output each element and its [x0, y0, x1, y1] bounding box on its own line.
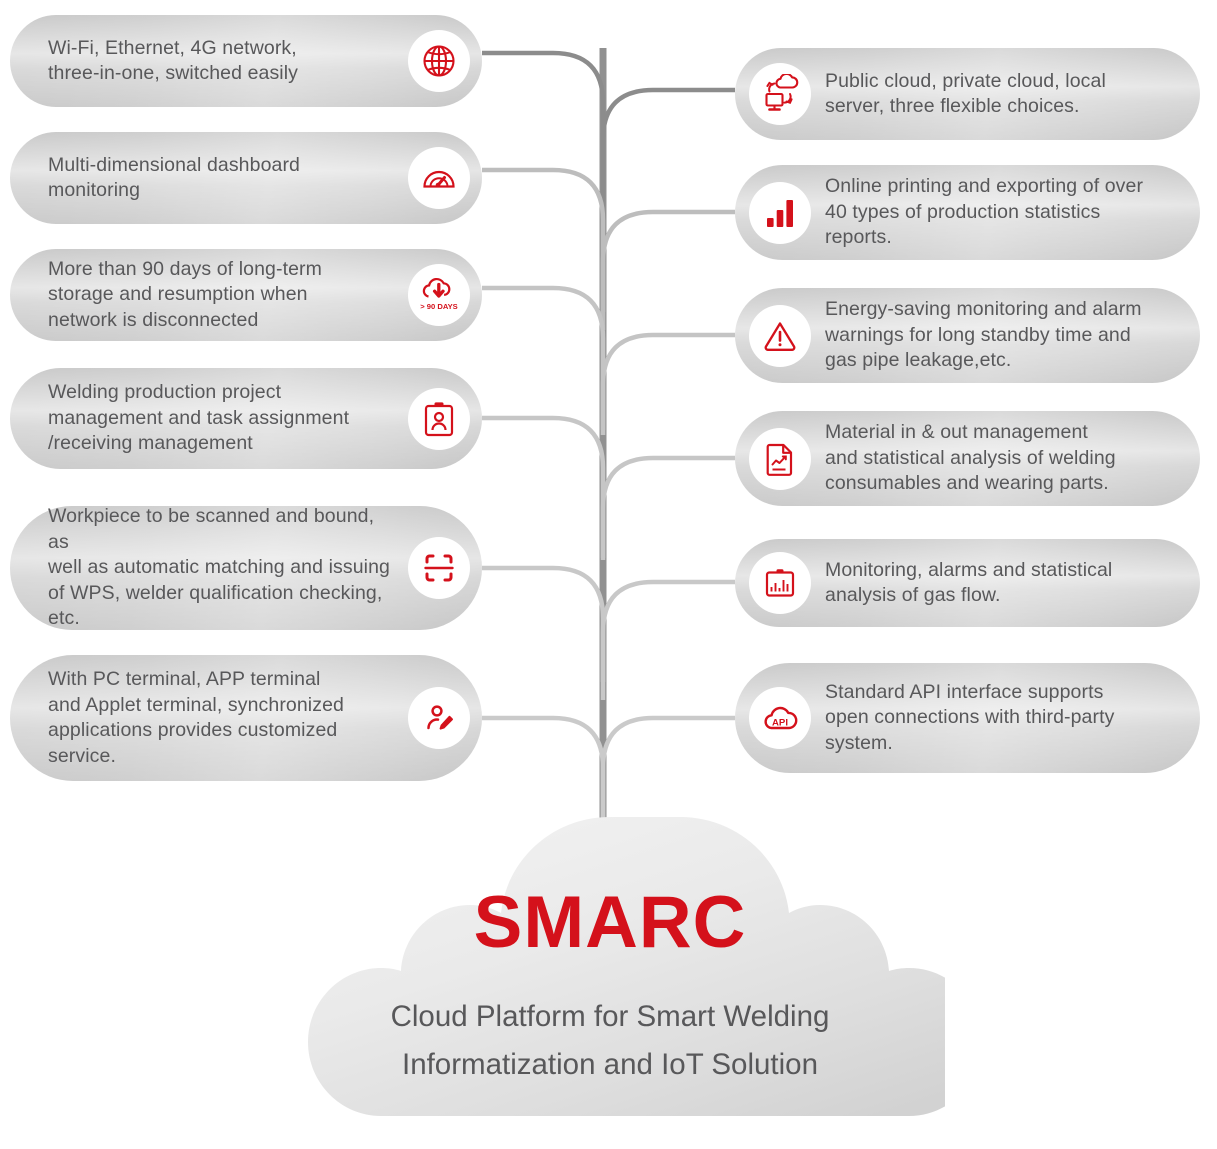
feature-text: Welding production project management an… [48, 380, 408, 457]
feature-pill-material[interactable]: Material in & out management and statist… [735, 411, 1200, 506]
cloud-shape-icon [275, 805, 945, 1149]
feature-text: Online printing and exporting of over 40… [811, 174, 1174, 251]
feature-pill-project-management[interactable]: Welding production project management an… [10, 368, 482, 469]
bar-chart-icon [749, 182, 811, 244]
api-cloud-icon: API [749, 687, 811, 749]
gauge-icon [408, 147, 470, 209]
cloud-sync-monitor-icon [749, 63, 811, 125]
feature-text: Wi-Fi, Ethernet, 4G network, three-in-on… [48, 36, 408, 87]
branch-left-5 [482, 568, 603, 700]
branch-left-2 [482, 170, 603, 330]
branch-left-3 [482, 288, 603, 430]
feature-pill-terminals[interactable]: With PC terminal, APP terminal and Apple… [10, 655, 482, 781]
feature-text: Multi-dimensional dashboard monitoring [48, 153, 408, 204]
feature-text: Standard API interface supports open con… [811, 680, 1174, 757]
document-chart-icon [749, 428, 811, 490]
branch-right-4 [603, 458, 735, 558]
cloud-download-icon: > 90 DAYS [408, 264, 470, 326]
clipboard-person-icon [408, 388, 470, 450]
branch-left-4 [482, 418, 603, 560]
branch-right-3 [603, 335, 735, 435]
cloud-title: SMARC [275, 883, 945, 963]
infographic-canvas: Wi-Fi, Ethernet, 4G network, three-in-on… [0, 0, 1217, 1149]
feature-pill-energy-alarm[interactable]: Energy-saving monitoring and alarm warni… [735, 288, 1200, 383]
feature-pill-gas-flow[interactable]: Monitoring, alarms and statistical analy… [735, 539, 1200, 627]
branch-right-2 [603, 212, 735, 312]
feature-pill-storage[interactable]: More than 90 days of long-term storage a… [10, 249, 482, 341]
clipboard-chart-icon [749, 552, 811, 614]
person-edit-icon [408, 687, 470, 749]
branch-right-6 [603, 718, 735, 818]
feature-pill-reports[interactable]: Online printing and exporting of over 40… [735, 165, 1200, 260]
feature-pill-network[interactable]: Wi-Fi, Ethernet, 4G network, three-in-on… [10, 15, 482, 107]
branch-right-5 [603, 582, 735, 682]
cloud-subtitle: Cloud Platform for Smart Welding Informa… [275, 993, 945, 1089]
feature-pill-deployment[interactable]: Public cloud, private cloud, local serve… [735, 48, 1200, 140]
globe-icon [408, 30, 470, 92]
feature-pill-workpiece-scan[interactable]: Workpiece to be scanned and bound, as we… [10, 506, 482, 630]
feature-text: Workpiece to be scanned and bound, as we… [48, 504, 408, 632]
feature-pill-dashboard[interactable]: Multi-dimensional dashboard monitoring [10, 132, 482, 224]
feature-text: Public cloud, private cloud, local serve… [811, 69, 1174, 120]
warning-triangle-icon [749, 305, 811, 367]
icon-label: > 90 DAYS [420, 302, 458, 311]
icon-label: API [772, 718, 788, 729]
center-cloud-node[interactable]: SMARC Cloud Platform for Smart Welding I… [275, 805, 945, 1149]
feature-pill-api[interactable]: API Standard API interface supports open… [735, 663, 1200, 773]
feature-text: Material in & out management and statist… [811, 420, 1174, 497]
branch-right-1 [603, 90, 735, 190]
branch-left-1 [482, 53, 603, 300]
feature-text: More than 90 days of long-term storage a… [48, 257, 408, 334]
feature-text: With PC terminal, APP terminal and Apple… [48, 667, 408, 769]
feature-text: Monitoring, alarms and statistical analy… [811, 558, 1174, 609]
feature-text: Energy-saving monitoring and alarm warni… [811, 297, 1174, 374]
scan-frame-icon [408, 537, 470, 599]
